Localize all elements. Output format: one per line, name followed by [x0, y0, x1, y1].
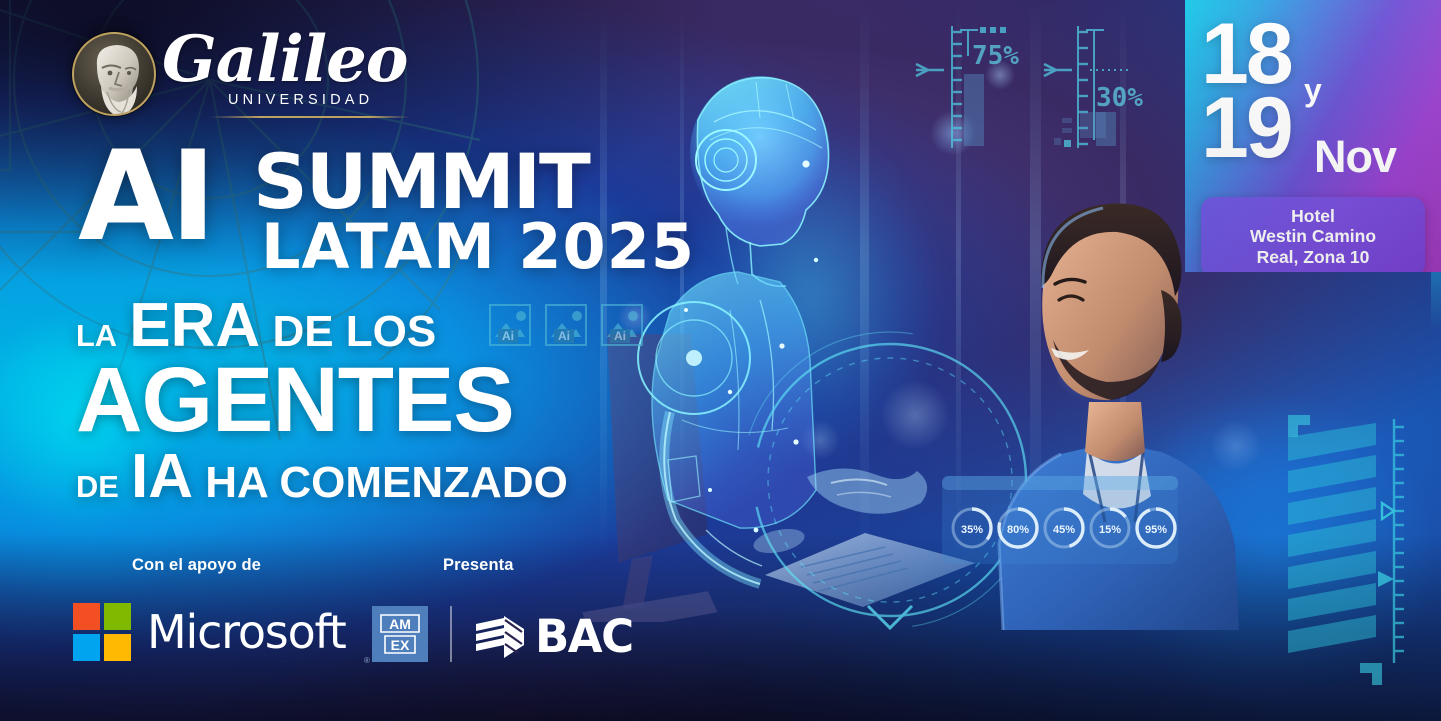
presenter-label: Presenta: [443, 556, 514, 575]
tagline-line-2: AGENTES: [76, 355, 696, 445]
date-day-19: 19: [1201, 92, 1291, 164]
bac-arrow-mark-icon: [474, 614, 526, 660]
venue-line-3: Real, Zona 10: [1207, 247, 1419, 267]
event-title: AI SUMMIT LATAM 2025: [78, 140, 698, 270]
bac-wordmark: BAC: [535, 610, 633, 663]
hud-dial-value: 35%: [961, 524, 983, 536]
date-block: 18 y 19 Nov: [1201, 18, 1431, 178]
date-day-18: 18: [1201, 18, 1291, 90]
tagline-ia: IA: [131, 442, 193, 511]
galileo-bust-medallion-icon: [72, 32, 156, 116]
venue-line-2: Westin Camino: [1207, 226, 1419, 246]
tagline-la: LA: [76, 318, 117, 353]
amex-text-top: AM: [389, 616, 411, 632]
date-venue-panel: 18 y 19 Nov Hotel Westin Camino Real, Zo…: [1185, 0, 1441, 272]
bac-logo: BAC: [474, 610, 633, 663]
venue-line-1: Hotel: [1207, 206, 1419, 226]
microsoft-wordmark: Microsoft: [147, 605, 346, 659]
tagline-line-1: LA ERA DE LOS: [76, 296, 696, 357]
date-month-nov: Nov: [1314, 134, 1396, 179]
hud-dial-value: 45%: [1053, 524, 1075, 536]
sponsors-section: Con el apoyo de Presenta Microsoft AM EX…: [76, 556, 716, 676]
tagline-line-3: DE IA HA COMENZADO: [76, 447, 696, 508]
tagline-ha-comenzado: HA COMENZADO: [205, 458, 568, 507]
title-summit: SUMMIT: [253, 144, 589, 220]
microsoft-squares-icon: [73, 603, 131, 661]
galileo-university-logo: Galileo UNIVERSIDAD: [72, 30, 392, 122]
logo-underline-rule: [210, 116, 410, 118]
galileo-bust-icon: [81, 40, 151, 116]
amex-mark-icon: AM EX: [378, 612, 422, 656]
hud-dial-value: 95%: [1145, 524, 1167, 536]
hud-diagonal-bars: [1288, 415, 1438, 705]
amex-text-bottom: EX: [391, 637, 410, 653]
hud-gauge-left-value: 75%: [972, 41, 1019, 71]
amex-logo: AM EX: [372, 606, 428, 662]
hud-dial-row: 35% 80% 45% 15% 95%: [942, 470, 1182, 570]
title-ai: AI: [78, 140, 212, 254]
amex-registered-mark: ®: [364, 656, 370, 665]
event-banner: 75% 30% 35% 80% 45% 15%: [0, 0, 1441, 721]
hud-gauge-right-value: 30%: [1096, 83, 1143, 113]
event-tagline: LA ERA DE LOS AGENTES DE IA HA COMENZADO: [76, 296, 696, 508]
date-conjunction-y: y: [1304, 74, 1322, 106]
logo-subtitle: UNIVERSIDAD: [228, 92, 373, 108]
tagline-de: DE: [76, 469, 119, 504]
venue-badge: Hotel Westin Camino Real, Zona 10: [1201, 197, 1425, 272]
logo-wordmark: Galileo: [162, 28, 407, 92]
hud-block-indicators: [1040, 112, 1110, 162]
microsoft-logo: Microsoft: [73, 603, 346, 661]
title-latam-year: LATAM 2025: [261, 216, 695, 278]
sponsor-divider: [450, 606, 452, 662]
support-label: Con el apoyo de: [132, 556, 261, 575]
hud-dial-value: 15%: [1099, 524, 1121, 536]
hud-dial-value: 80%: [1007, 524, 1029, 536]
